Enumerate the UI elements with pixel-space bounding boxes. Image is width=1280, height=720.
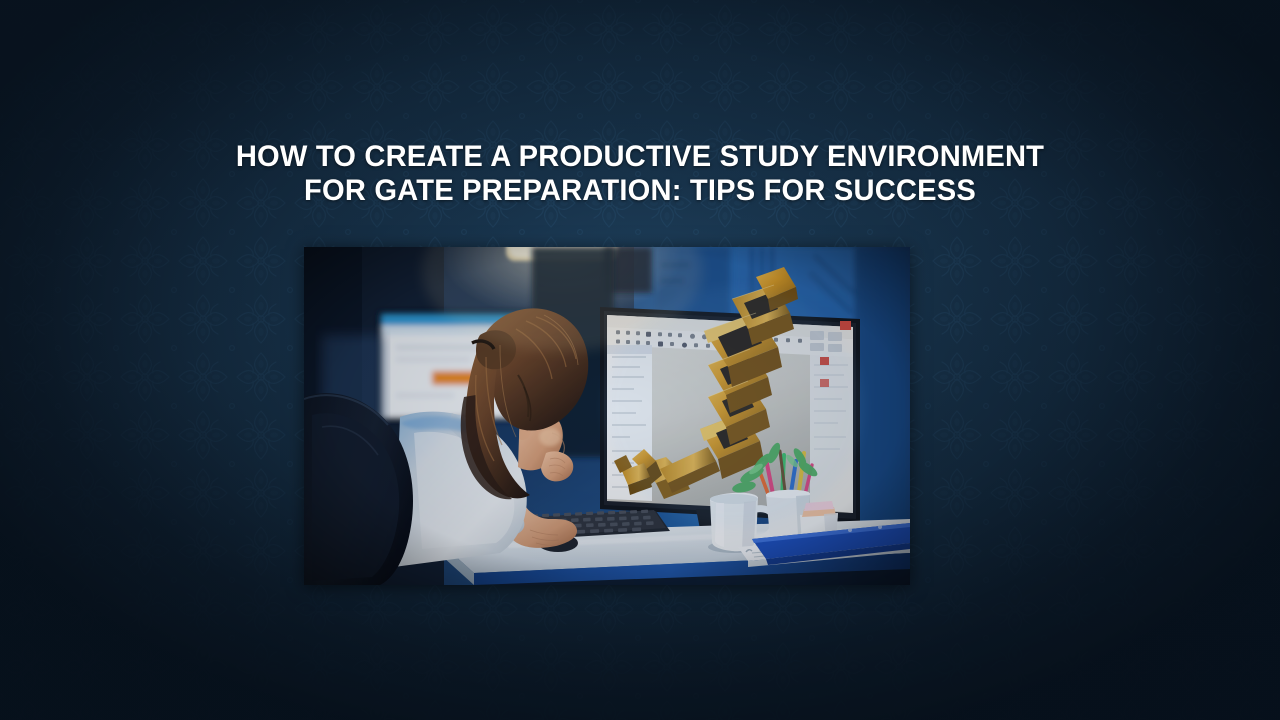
title-line-2: FOR GATE PREPARATION: TIPS FOR SUCCESS [107, 174, 1174, 208]
slide-title: HOW TO CREATE A PRODUCTIVE STUDY ENVIRON… [0, 140, 1280, 208]
title-line-1: HOW TO CREATE A PRODUCTIVE STUDY ENVIRON… [107, 140, 1174, 174]
slide-canvas: HOW TO CREATE A PRODUCTIVE STUDY ENVIRON… [0, 0, 1280, 720]
slide-photo [304, 247, 910, 585]
